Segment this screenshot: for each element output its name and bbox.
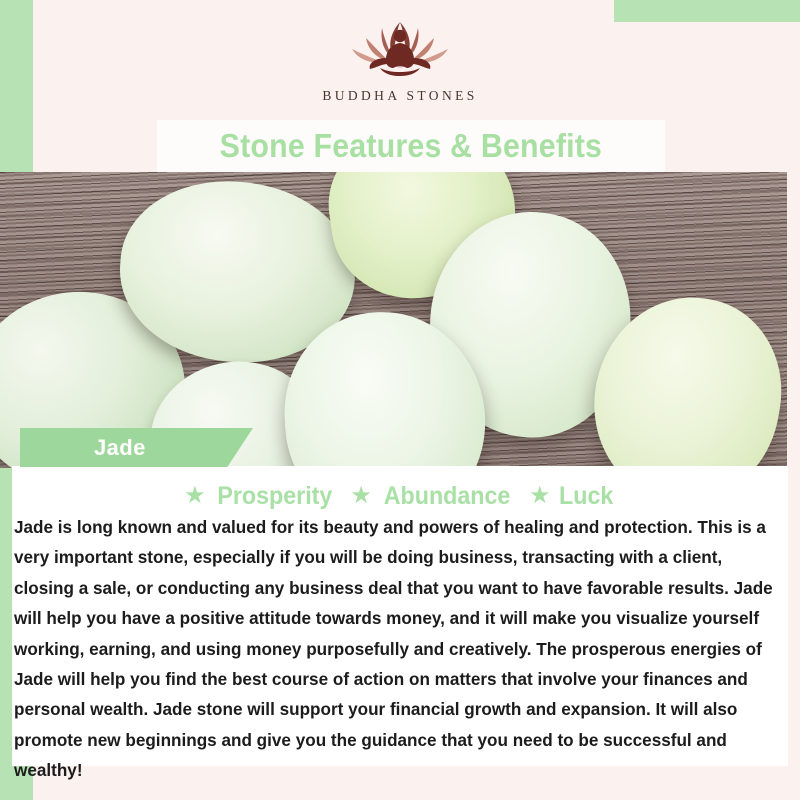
benefit-label: Prosperity: [217, 482, 332, 511]
stone-info-card: BUDDHA STONES Stone Features & Benefits …: [0, 0, 800, 800]
stone-name-label: Jade: [20, 435, 146, 461]
benefit-label: Abundance: [384, 482, 511, 511]
benefit-item-prosperity: ★ Prosperity: [184, 482, 336, 511]
lotus-meditation-icon: [330, 14, 470, 86]
title-banner: Stone Features & Benefits: [157, 120, 665, 172]
brand-logo-block: BUDDHA STONES: [0, 14, 800, 104]
star-icon: ★: [184, 484, 206, 508]
star-icon: ★: [529, 484, 551, 508]
jade-stones-photo: [0, 172, 787, 468]
page-title: Stone Features & Benefits: [220, 127, 603, 165]
description-text: Jade is long known and valued for its be…: [14, 512, 778, 786]
benefit-item-abundance: ★ Abundance: [350, 482, 515, 511]
benefits-list: ★ Prosperity ★ Abundance ★ Luck: [0, 480, 800, 512]
benefit-label: Luck: [560, 482, 614, 511]
stone-name-banner: Jade: [20, 428, 253, 467]
brand-name: BUDDHA STONES: [0, 88, 800, 104]
benefit-item-luck: ★ Luck: [529, 482, 616, 511]
star-icon: ★: [350, 484, 372, 508]
